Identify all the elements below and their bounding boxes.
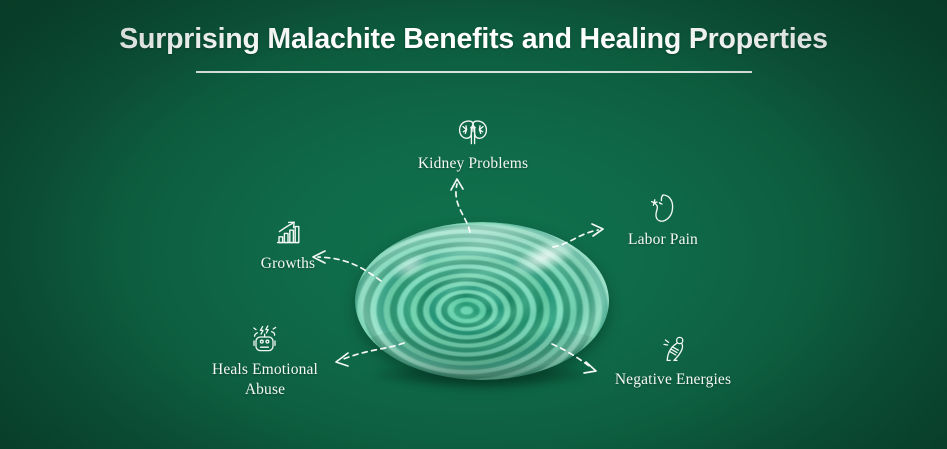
kidneys-icon — [453, 112, 493, 152]
callout-label: Negative Energies — [615, 370, 731, 390]
callout-kidney-problems: Kidney Problems — [378, 112, 568, 174]
title-block: Surprising Malachite Benefits and Healin… — [0, 22, 947, 73]
callout-growths: Growths — [193, 212, 383, 274]
callout-negative-energies: Negative Energies — [578, 328, 768, 390]
page-title: Surprising Malachite Benefits and Healin… — [0, 22, 947, 56]
callout-label: Growths — [261, 254, 315, 274]
callout-label: Labor Pain — [628, 230, 698, 250]
title-underline-divider — [196, 71, 752, 73]
stone-bottom-shading — [355, 323, 609, 380]
callout-heals-emotional-abuse: Heals Emotional Abuse — [170, 318, 360, 401]
callout-label: Kidney Problems — [418, 154, 528, 174]
burdened-person-icon — [653, 328, 693, 368]
callout-labor-pain: Labor Pain — [568, 188, 758, 250]
growth-chart-icon — [268, 212, 308, 252]
distressed-head-icon — [245, 318, 285, 358]
callout-label: Heals Emotional Abuse — [212, 360, 318, 401]
infographic-canvas: Surprising Malachite Benefits and Healin… — [0, 0, 947, 449]
womb-icon — [643, 188, 683, 228]
